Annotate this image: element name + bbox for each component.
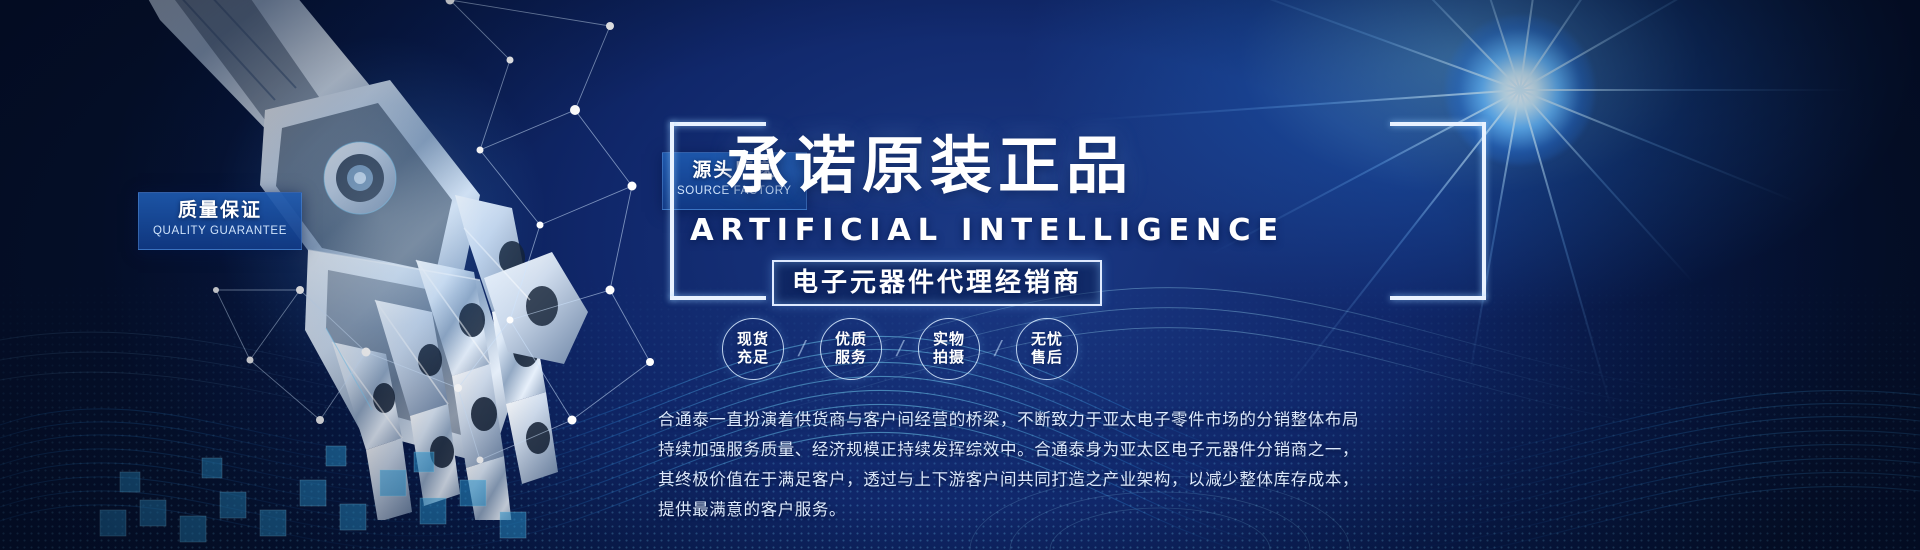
paragraph-line-1: 合通泰一直扮演着供货商与客户间经营的桥梁，不断致力于亚太电子零件市场的分销整体布…	[658, 405, 1858, 435]
paragraph-line-2: 持续加强服务质量、经济规模正持续发挥综效中。合通泰身为亚太区电子元器件分销商之一…	[658, 435, 1858, 465]
badge-quality-guarantee: 质量保证 QUALITY GUARANTEE	[138, 192, 302, 250]
promo-banner: 质量保证 QUALITY GUARANTEE 源头厂家 SOURCE FACTO…	[0, 0, 1920, 550]
feature-1-line2: 充足	[737, 349, 769, 367]
feature-2-line2: 服务	[835, 349, 867, 367]
feature-4-line2: 售后	[1031, 349, 1063, 367]
description-paragraph: 合通泰一直扮演着供货商与客户间经营的桥梁，不断致力于亚太电子零件市场的分销整体布…	[658, 405, 1858, 525]
feature-separator-3: /	[977, 336, 1019, 362]
feature-circle-2: 优质 服务	[820, 318, 882, 380]
paragraph-line-3: 其终极价值在于满足客户，透过与上下游客户间共同打造之产业架构，以减少整体库存成本…	[658, 465, 1858, 495]
feature-4-line1: 无忧	[1031, 331, 1063, 349]
feature-circle-3: 实物 拍摄	[918, 318, 980, 380]
headline-title-cn: 承诺原装正品	[726, 136, 1134, 198]
feature-separator-1: /	[781, 336, 823, 362]
feature-circle-1: 现货 充足	[722, 318, 784, 380]
feature-2-line1: 优质	[835, 331, 867, 349]
headline-title-en: ARTIFICIAL INTELLIGENCE	[690, 216, 1285, 246]
subtitle-text: 电子元器件代理经销商	[792, 269, 1082, 295]
feature-3-line2: 拍摄	[933, 349, 965, 367]
feature-3-line1: 实物	[933, 331, 965, 349]
feature-circle-4: 无忧 售后	[1016, 318, 1078, 380]
feature-separator-2: /	[879, 336, 921, 362]
badge-quality-en: QUALITY GUARANTEE	[153, 223, 287, 240]
paragraph-line-4: 提供最满意的客户服务。	[658, 495, 1858, 525]
feature-1-line1: 现货	[737, 331, 769, 349]
headline-block: 承诺原装正品 ARTIFICIAL INTELLIGENCE 电子元器件代理经销…	[648, 60, 1878, 530]
feature-circle-row: 现货 充足 / 优质 服务 / 实物 拍摄 / 无忧 售后	[722, 318, 1078, 380]
subtitle-box: 电子元器件代理经销商	[772, 260, 1102, 306]
badge-quality-cn: 质量保证	[153, 200, 287, 221]
